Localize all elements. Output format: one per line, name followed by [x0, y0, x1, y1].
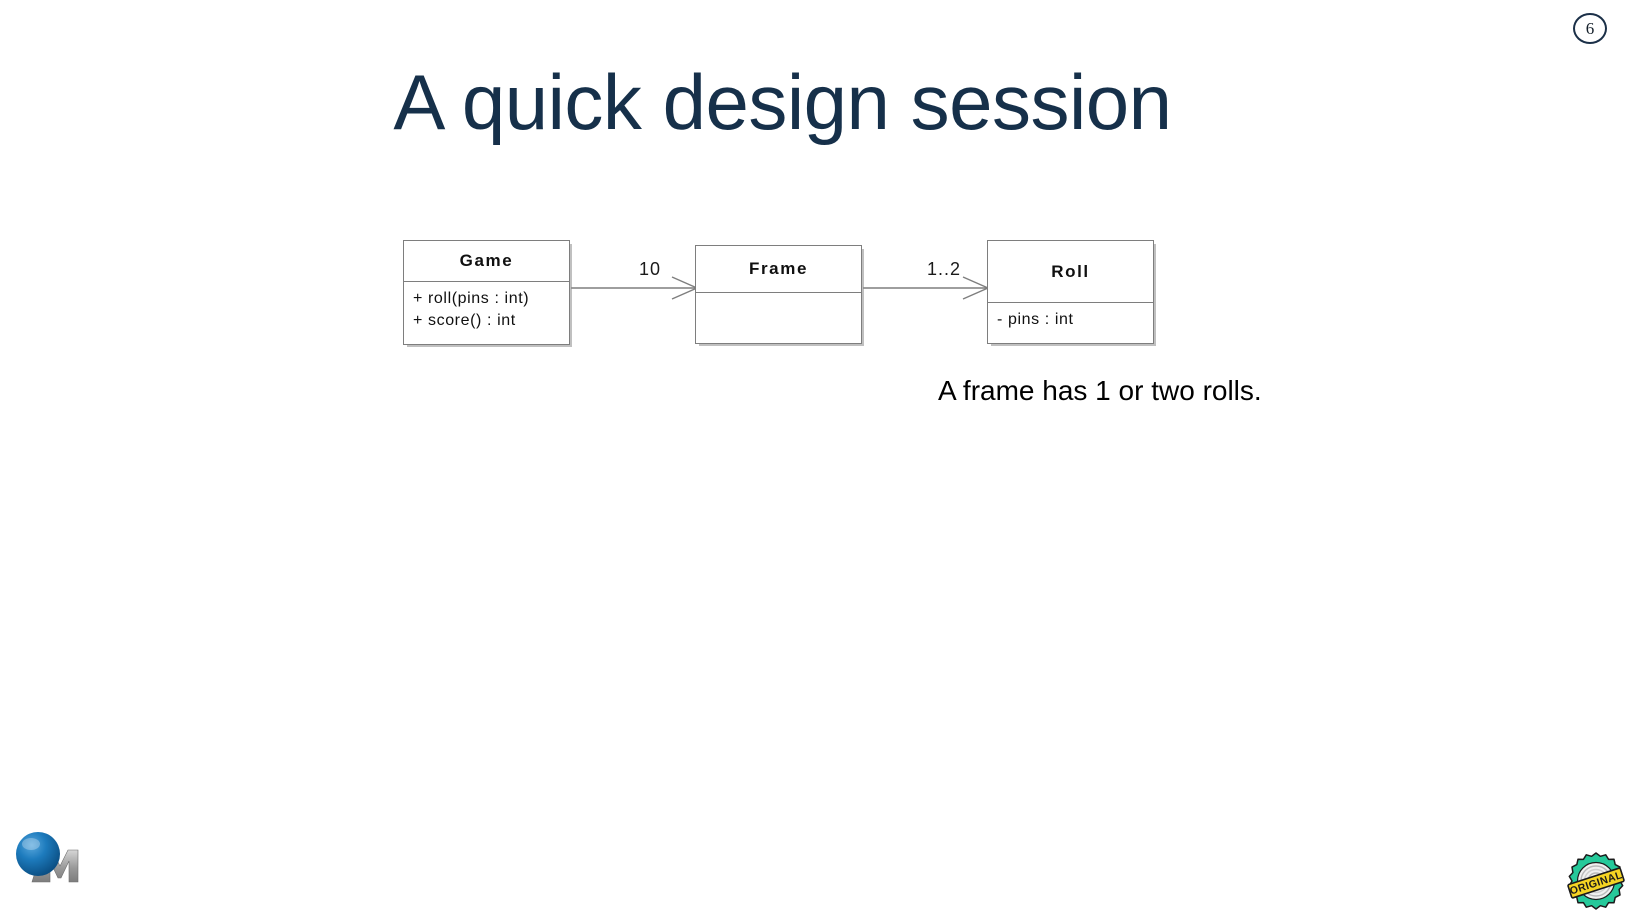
association-multiplicity-frame-roll: 1..2 [927, 259, 961, 280]
arrowhead-frame-roll [963, 277, 988, 299]
uml-members-roll: - pins : int [988, 303, 1153, 331]
uml-class-game: Game + roll(pins : int) + score() : int [403, 240, 570, 345]
diagram-caption: A frame has 1 or two rolls. [938, 375, 1262, 407]
arrowhead-game-frame [672, 277, 697, 299]
uml-class-name-roll: Roll [988, 241, 1153, 303]
uml-member: - pins : int [997, 309, 1144, 331]
slide-canvas: 6 A quick design session Game + roll(pin… [0, 0, 1640, 922]
uml-class-roll: Roll - pins : int [987, 240, 1154, 344]
logo-sphere-highlight [22, 838, 40, 850]
page-title: A quick design session [0, 62, 1565, 144]
association-multiplicity-game-frame: 10 [639, 259, 661, 280]
logo-sphere [16, 832, 60, 876]
uml-members-frame [696, 293, 861, 299]
page-number-text: 6 [1586, 20, 1595, 37]
uml-member: + score() : int [413, 310, 560, 332]
blue-sphere-m-logo [8, 812, 82, 896]
uml-class-name-frame: Frame [696, 246, 861, 293]
uml-class-frame: Frame [695, 245, 862, 344]
uml-class-name-game: Game [404, 241, 569, 282]
page-number-badge: 6 [1573, 13, 1607, 44]
original-seal: ORIGINAL [1567, 852, 1625, 910]
uml-member: + roll(pins : int) [413, 288, 560, 310]
uml-members-game: + roll(pins : int) + score() : int [404, 282, 569, 332]
